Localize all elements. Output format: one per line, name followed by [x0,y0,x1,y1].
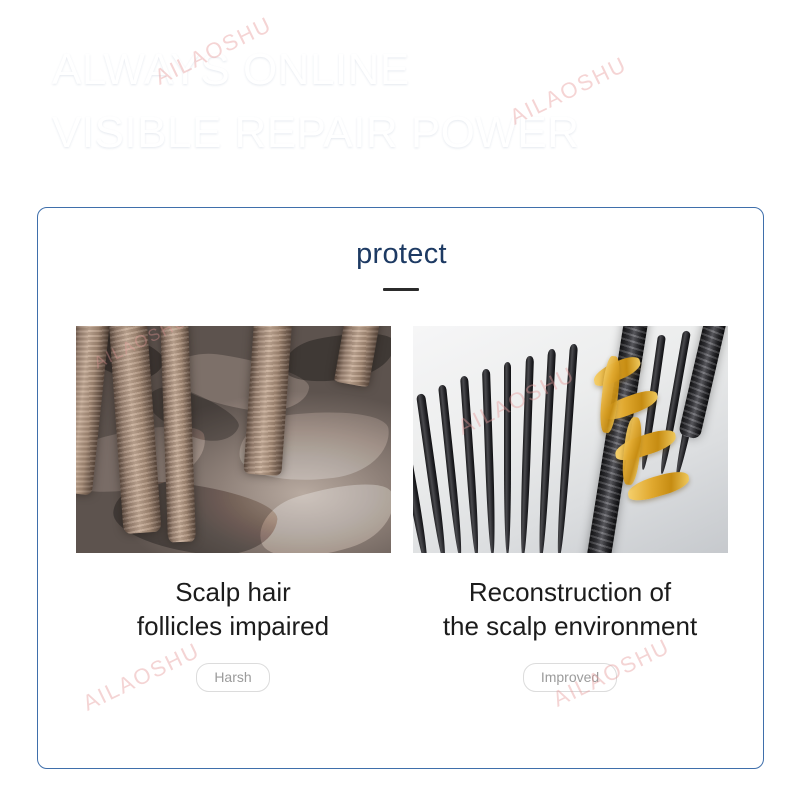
hair-strand [460,376,481,553]
hair-strand [482,369,496,553]
repaired-hair-strands-gold-ribbon-image: AILAOSHU [413,326,728,553]
status-badge-harsh: Harsh [196,663,269,692]
panel-before-caption: Scalp hair follicles impaired [76,575,391,643]
page-headline: ALWAYS ONLINE VISIBLE REPAIR POWER [52,38,692,164]
card-title: protect [38,238,764,271]
hair-strand [504,362,512,553]
title-divider [383,288,419,291]
panel-after-badge-row: Improved [413,663,728,692]
hair-strand [519,355,534,553]
sem-artwork [76,326,391,553]
page-header: ALWAYS ONLINE VISIBLE REPAIR POWER [0,0,800,207]
panel-after-caption: Reconstruction of the scalp environment [413,575,728,643]
panel-after: AILAOSHU Reconstruction of the scalp env… [413,326,728,692]
status-badge-improved: Improved [523,663,617,692]
wave-lines-icon [703,52,759,86]
panel-before: AILAOSHU Scalp hair follicles impaired H… [76,326,391,692]
comparison-panels: AILAOSHU Scalp hair follicles impaired H… [38,326,764,692]
promo-page: ALWAYS ONLINE VISIBLE REPAIR POWER prote… [0,0,800,800]
panel-before-badge-row: Harsh [76,663,391,692]
hair-strand [537,348,555,553]
sem-damaged-scalp-image: AILAOSHU [76,326,391,553]
hair-strand [555,344,577,553]
render-artwork [413,326,728,553]
content-card: protect [37,207,764,769]
scalp-flake [252,471,391,553]
